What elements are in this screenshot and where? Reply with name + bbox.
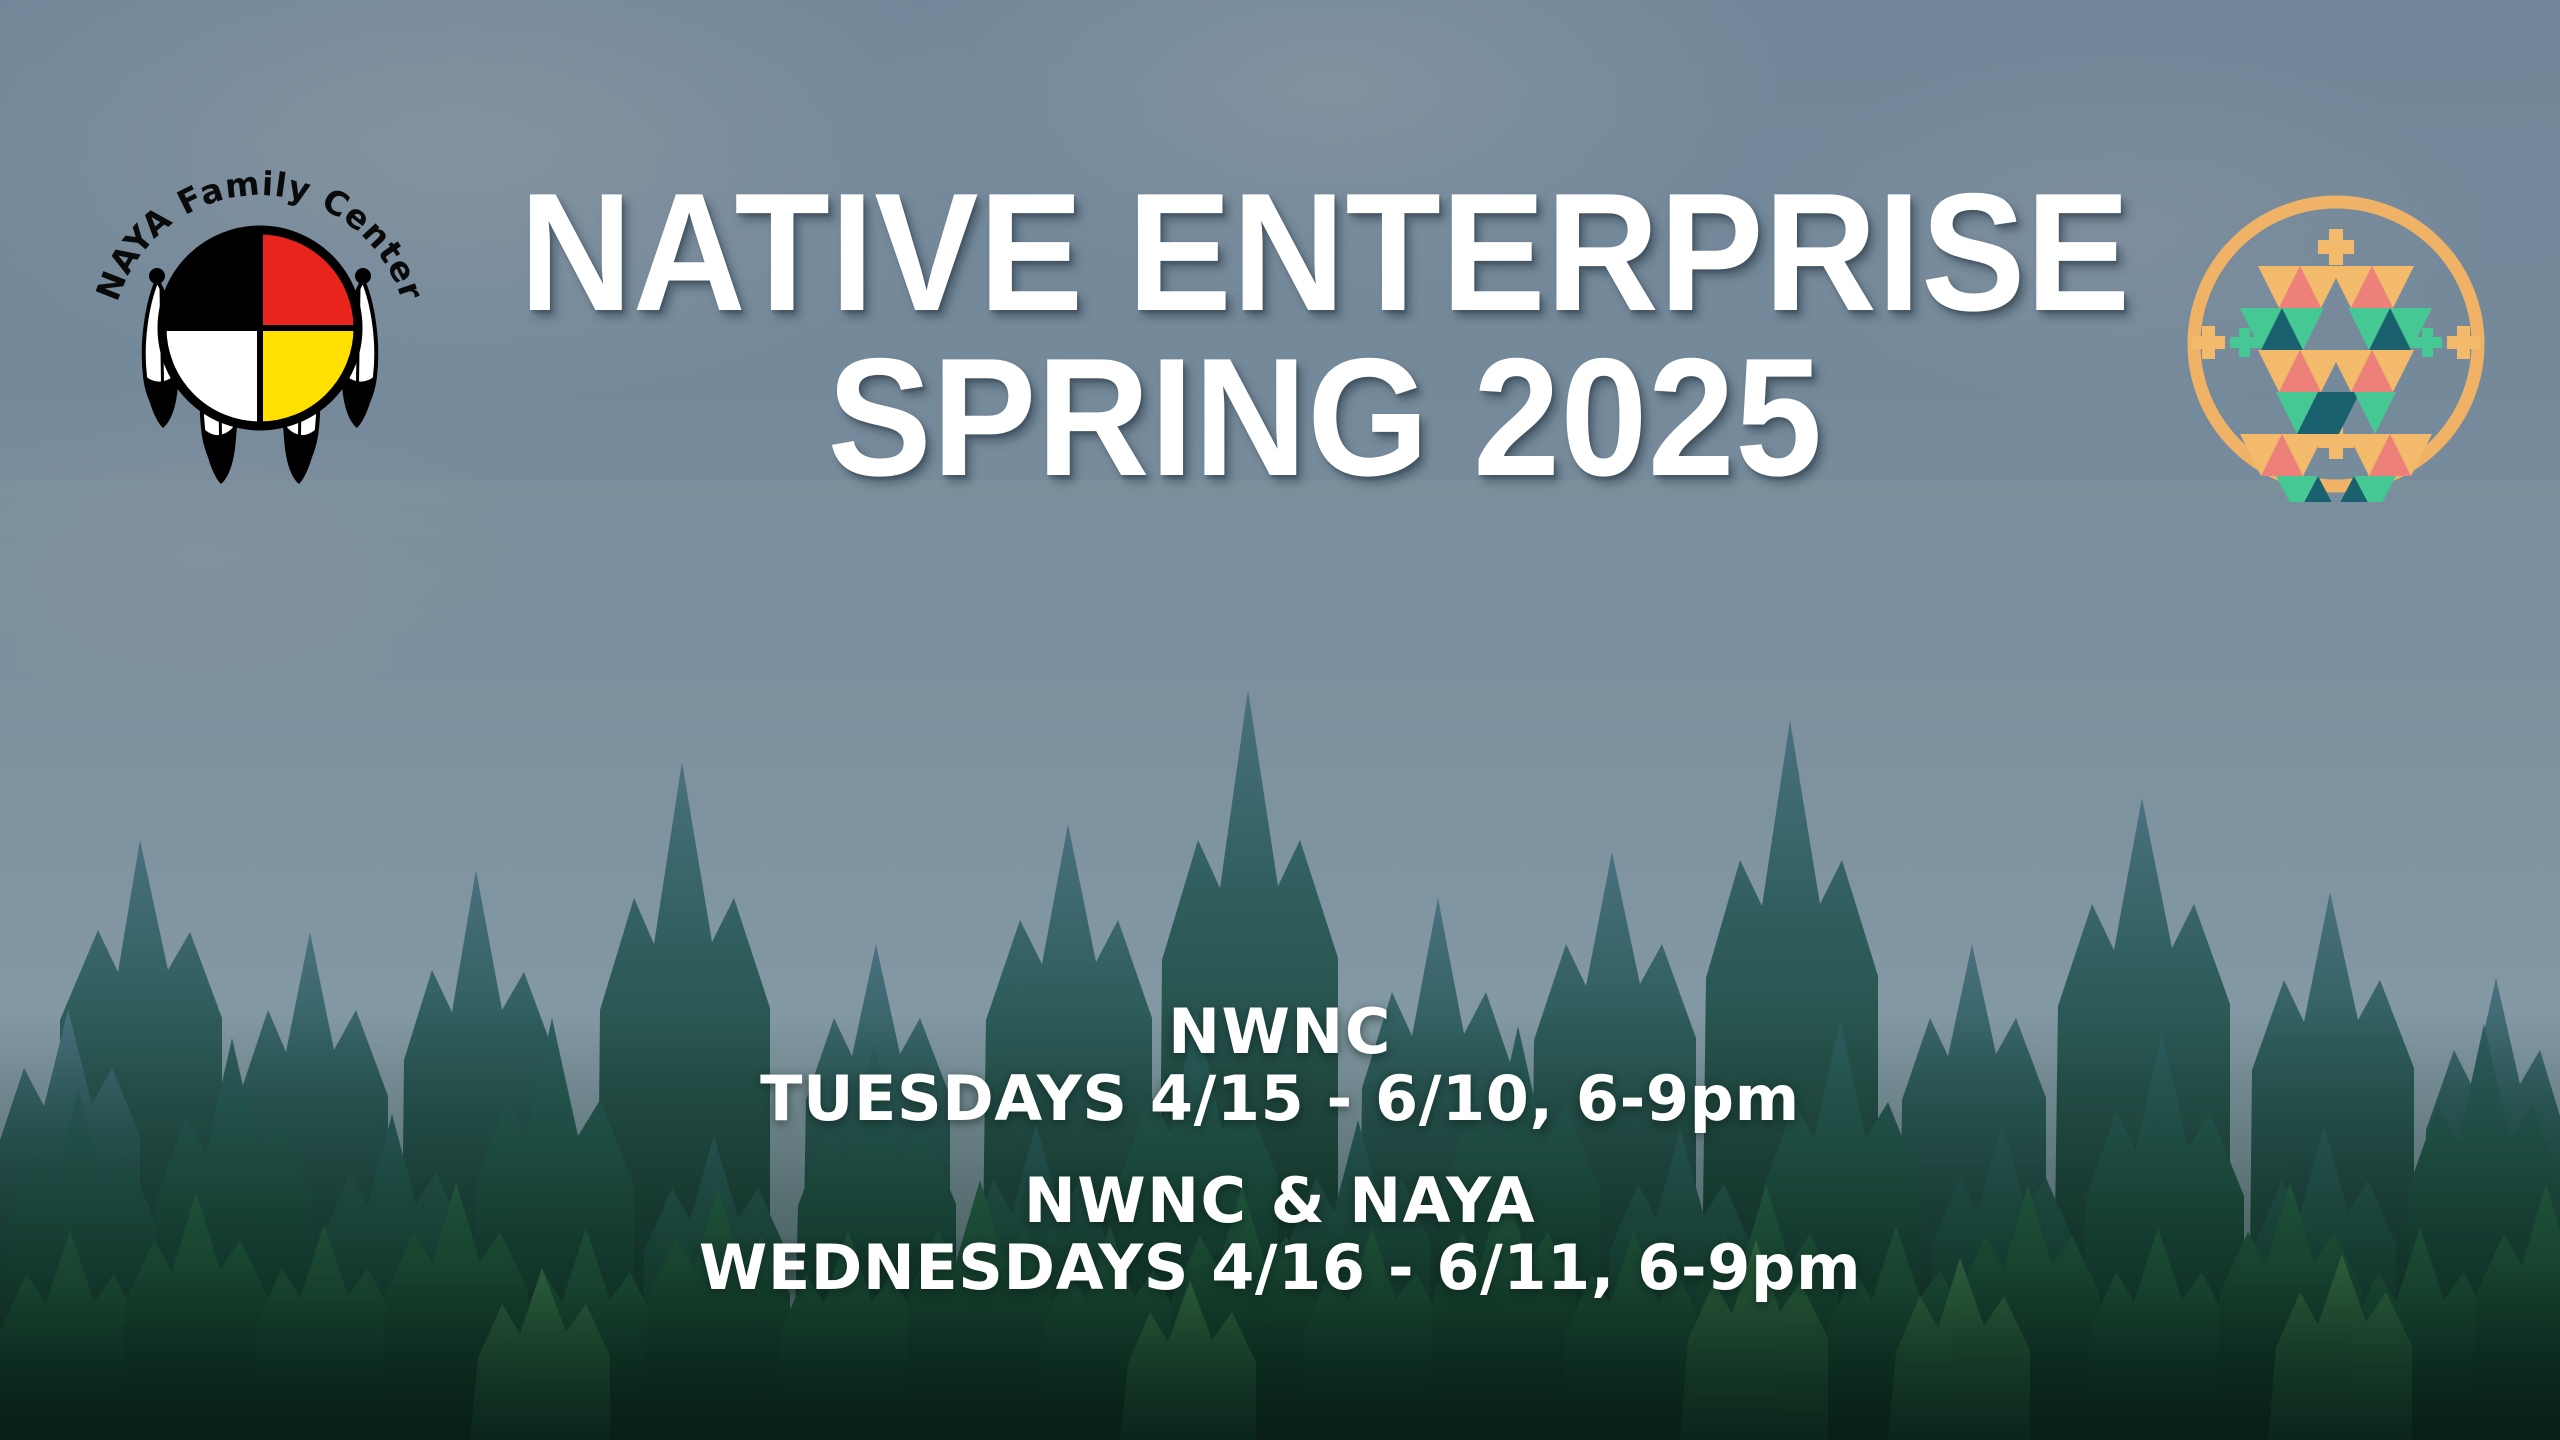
schedule-org: NWNC & NAYA (0, 1169, 2560, 1232)
page-title: NATIVE ENTERPRISE SPRING 2025 (0, 170, 2560, 499)
schedule-entry: NWNC & NAYA WEDNESDAYS 4/16 - 6/11, 6-9p… (0, 1169, 2560, 1304)
schedule-when: WEDNESDAYS 4/16 - 6/11, 6-9pm (0, 1232, 2560, 1304)
title-line-1: NATIVE ENTERPRISE (176, 170, 2473, 335)
forest-background (0, 540, 2560, 1440)
schedule-entry: NWNC TUESDAYS 4/15 - 6/10, 6-9pm (0, 1000, 2560, 1135)
flyer-canvas: NAYA Family Center (0, 0, 2560, 1440)
schedule-org: NWNC (0, 1000, 2560, 1063)
title-line-2: SPRING 2025 (176, 335, 2473, 500)
schedule-block: NWNC TUESDAYS 4/15 - 6/10, 6-9pm NWNC & … (0, 1000, 2560, 1304)
schedule-when: TUESDAYS 4/15 - 6/10, 6-9pm (0, 1063, 2560, 1135)
